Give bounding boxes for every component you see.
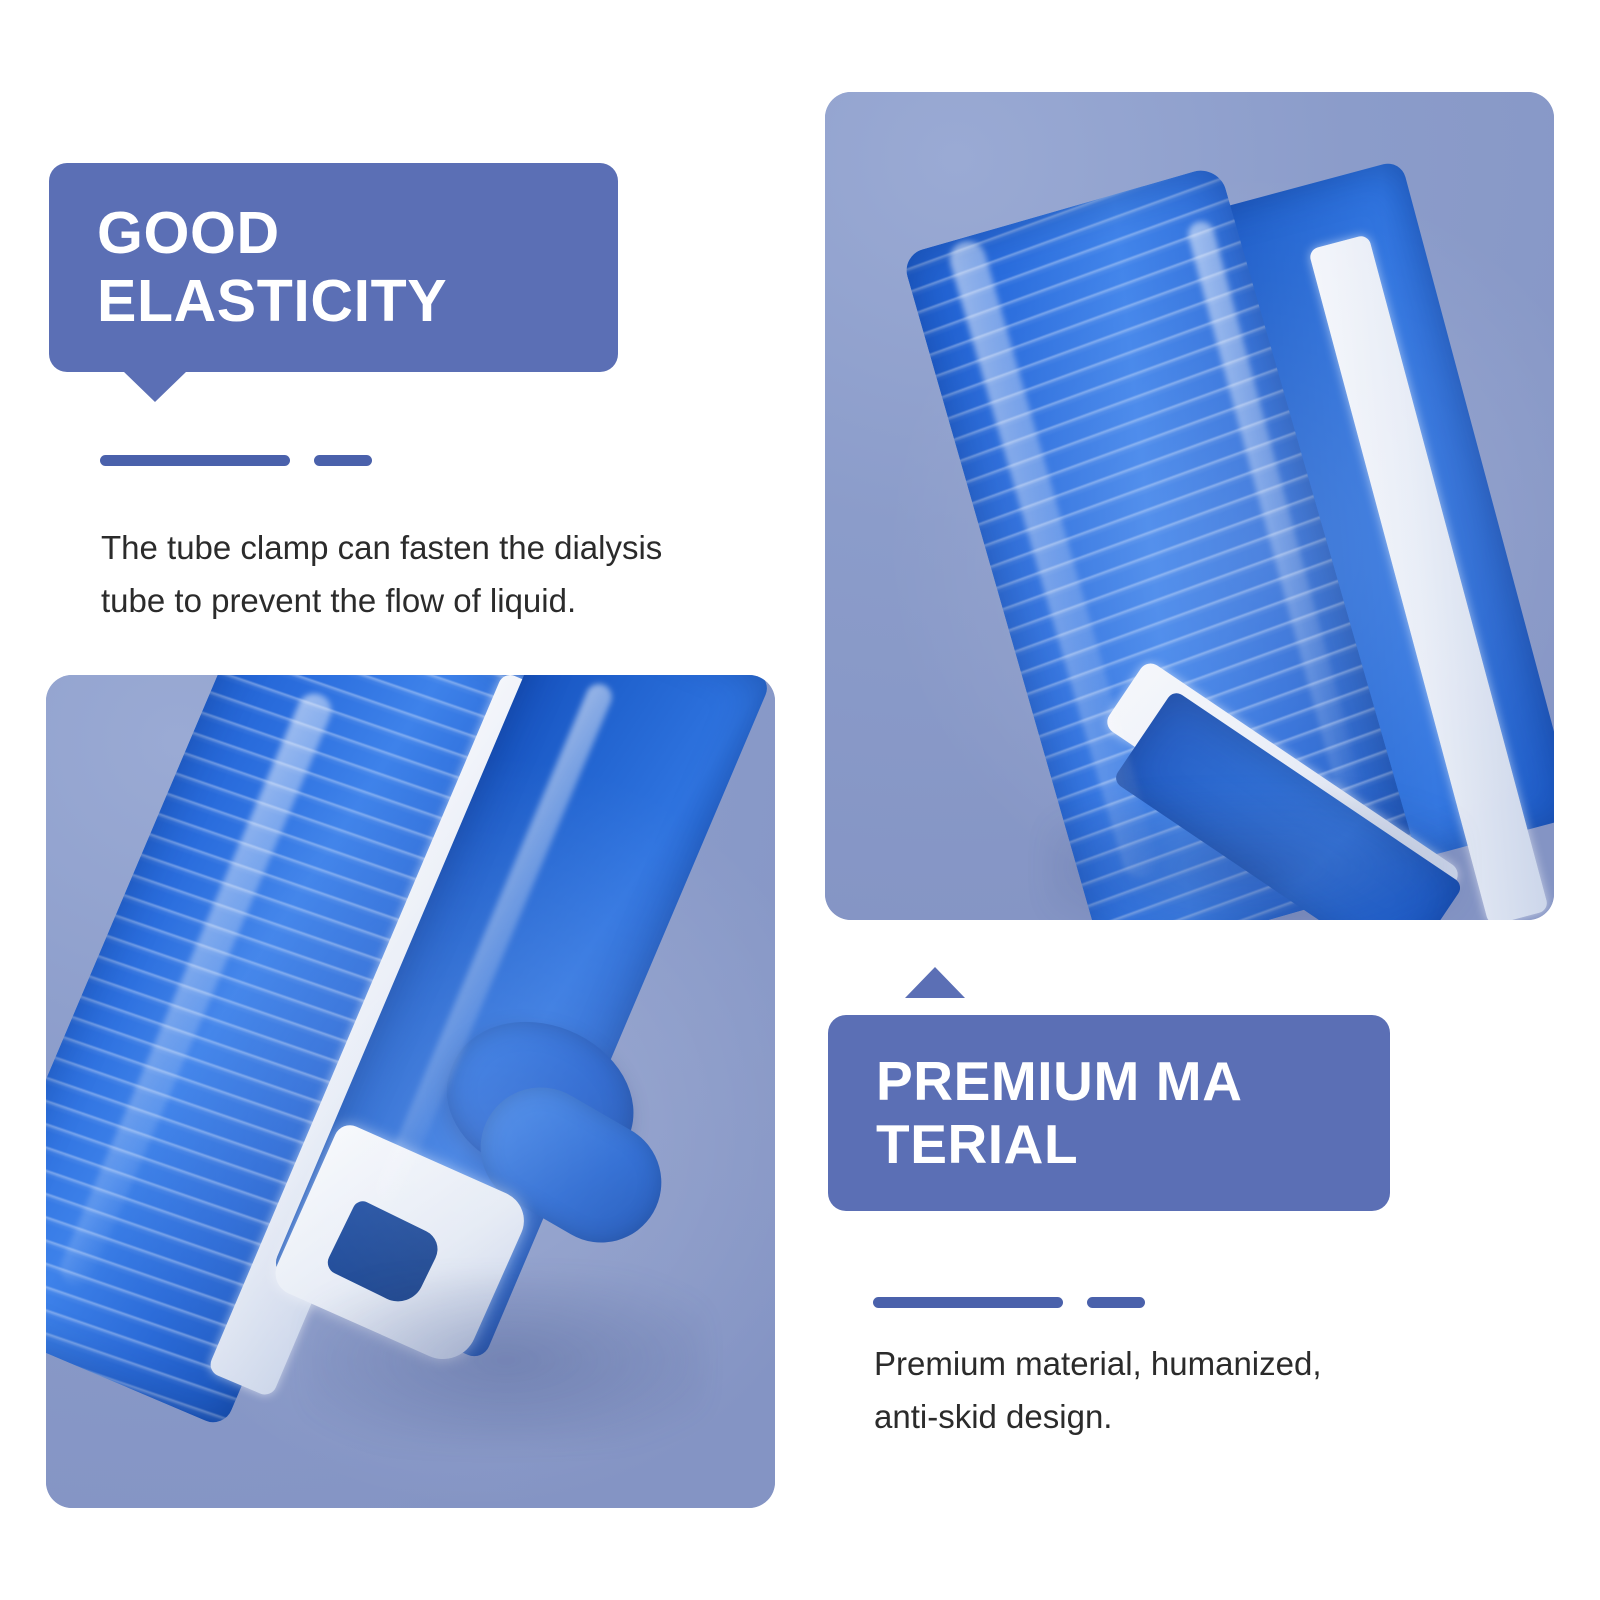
divider-bar-short	[1087, 1297, 1145, 1308]
divider-bar-short	[314, 455, 372, 466]
feature-divider-good-elasticity	[100, 455, 372, 466]
feature-divider-premium-material	[873, 1297, 1145, 1308]
product-photo-panel-bottom-left	[46, 675, 775, 1508]
badge-tail-up-icon	[905, 967, 965, 998]
feature-description-good-elasticity: The tube clamp can fasten the dialysis t…	[101, 521, 701, 628]
badge-tail-down-icon	[123, 371, 187, 402]
clamp-illustration-hinge	[46, 675, 775, 1508]
feature-badge-title: GOOD ELASTICITY	[97, 200, 447, 335]
divider-bar-long	[100, 455, 290, 466]
divider-bar-long	[873, 1297, 1063, 1308]
infographic-canvas: GOOD ELASTICITY The tube clamp can faste…	[0, 0, 1600, 1600]
feature-description-premium-material: Premium material, humanized, anti-skid d…	[874, 1337, 1434, 1444]
product-photo-panel-top-right	[825, 92, 1554, 920]
feature-badge-title: PREMIUM MA TERIAL	[876, 1050, 1243, 1175]
feature-badge-premium-material: PREMIUM MA TERIAL	[828, 1015, 1390, 1211]
clamp-illustration-jaws	[825, 92, 1554, 920]
feature-badge-good-elasticity: GOOD ELASTICITY	[49, 163, 618, 372]
